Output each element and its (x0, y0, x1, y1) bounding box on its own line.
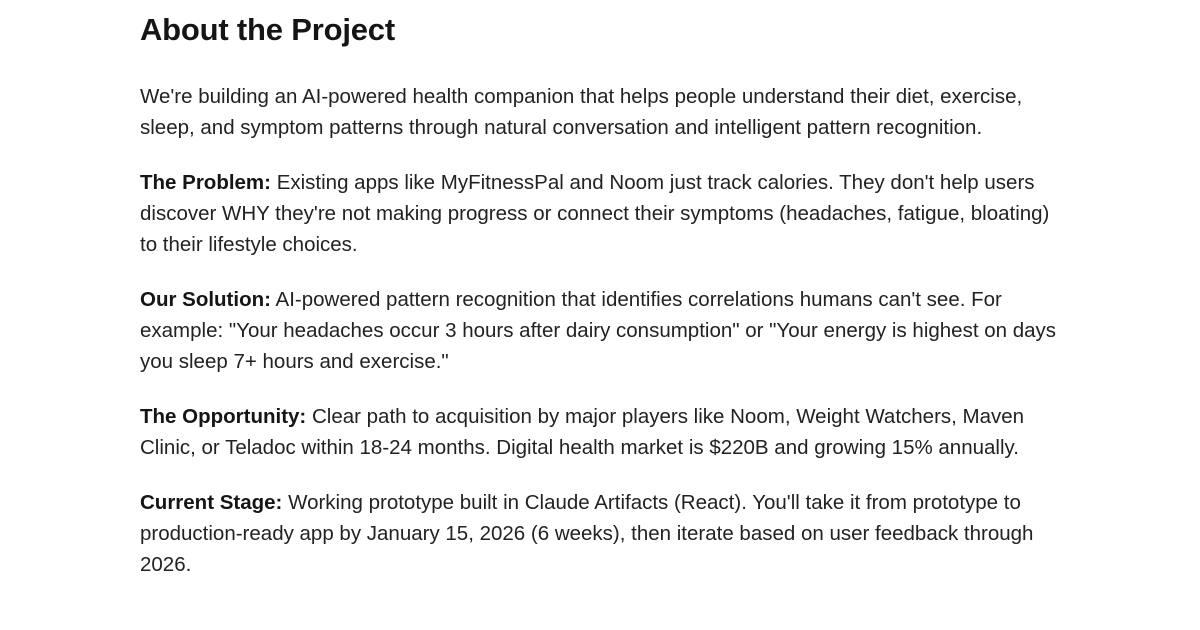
paragraph-the-problem: The Problem: Existing apps like MyFitnes… (140, 143, 1064, 260)
paragraph-our-solution: Our Solution: AI-powered pattern recogni… (140, 260, 1064, 377)
paragraph-intro: We're building an AI-powered health comp… (140, 50, 1064, 143)
paragraph-label-current-stage: Current Stage: (140, 491, 282, 514)
paragraph-current-stage: Current Stage: Working prototype built i… (140, 463, 1064, 580)
paragraph-the-opportunity: The Opportunity: Clear path to acquisiti… (140, 377, 1064, 463)
paragraph-label-the-opportunity: The Opportunity: (140, 405, 306, 428)
paragraph-label-the-problem: The Problem: (140, 171, 271, 194)
page-title: About the Project (140, 0, 1064, 50)
page-container: About the Project We're building an AI-p… (0, 0, 1200, 630)
paragraph-body-intro: We're building an AI-powered health comp… (140, 85, 1022, 139)
document-content: About the Project We're building an AI-p… (140, 0, 1064, 580)
paragraph-label-our-solution: Our Solution: (140, 288, 271, 311)
paragraph-body-the-problem: Existing apps like MyFitnessPal and Noom… (140, 171, 1049, 256)
paragraph-body-our-solution: AI-powered pattern recognition that iden… (140, 288, 1056, 373)
